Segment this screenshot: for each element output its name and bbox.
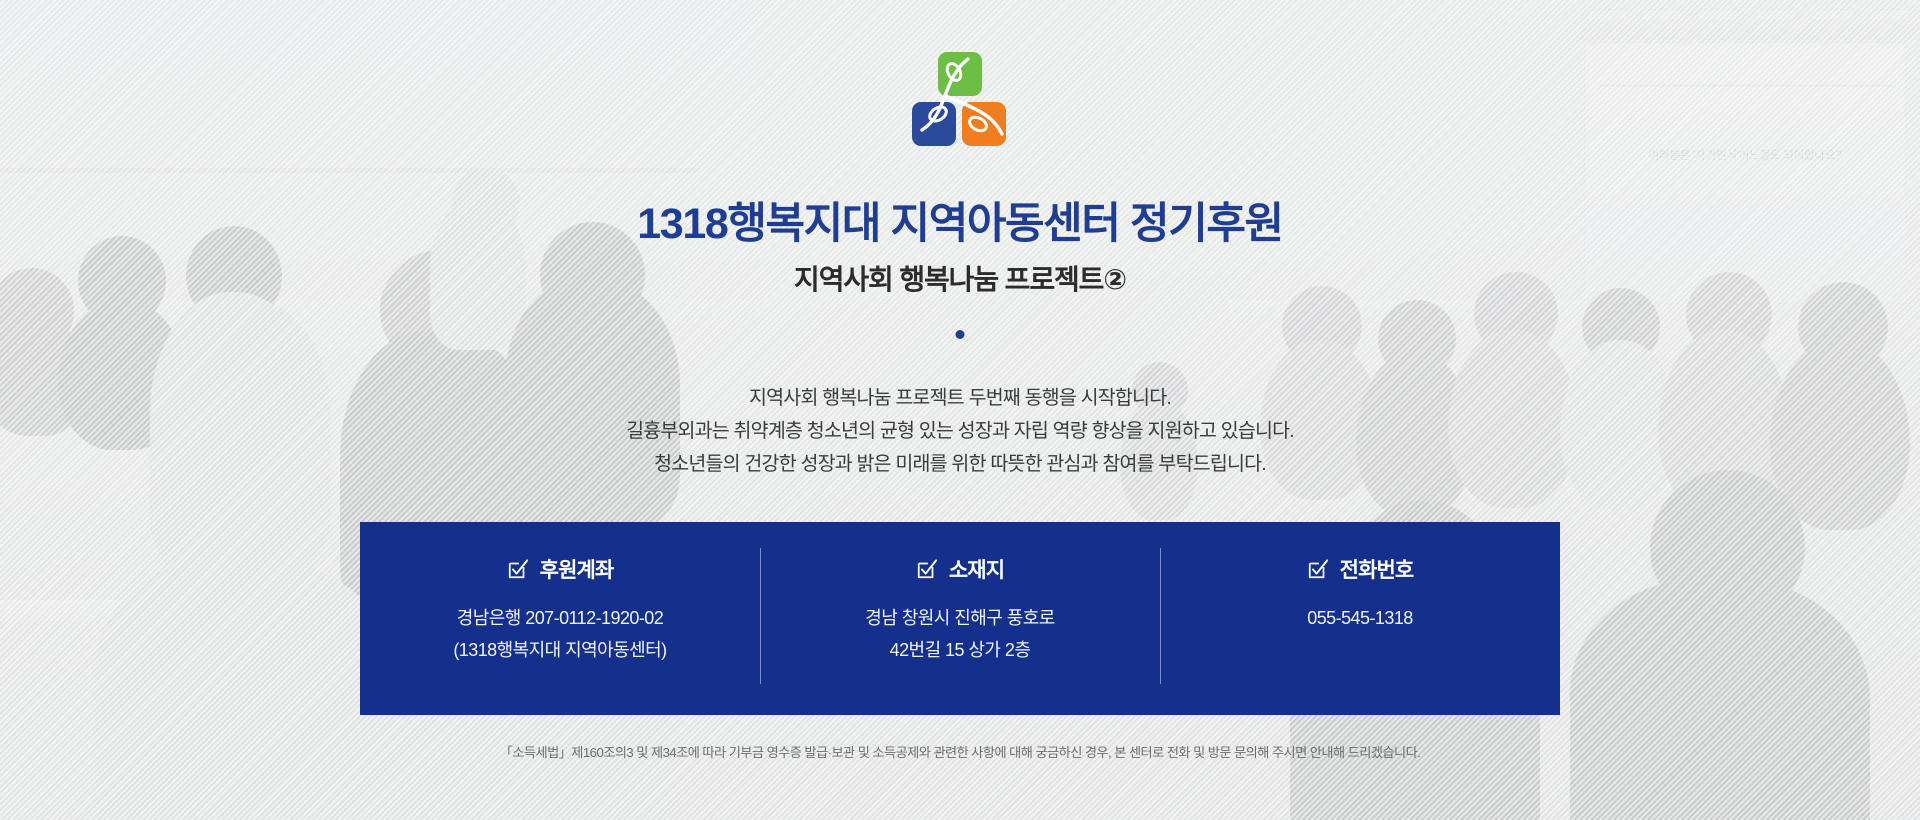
body-line: 지역사회 행복나눔 프로젝트 두번째 동행을 시작합니다. [0,382,1920,415]
info-line: 42번길 15 상가 2층 [865,634,1054,666]
info-line: 경남은행 207-0112-1920-02 [453,602,666,634]
info-line: (1318행복지대 지역아동센터) [453,634,666,666]
dot-divider [956,330,965,339]
info-lines-phone: 055-545-1318 [1307,602,1413,634]
info-column-account: 후원계좌 경남은행 207-0112-1920-02 (1318행복지대 지역아… [360,522,760,715]
info-lines-account: 경남은행 207-0112-1920-02 (1318행복지대 지역아동센터) [453,602,666,666]
info-column-location: 소재지 경남 창원시 진해구 풍호로 42번길 15 상가 2층 [760,522,1160,715]
page-title: 1318행복지대 지역아동센터 정기후원 [0,189,1920,251]
body-line: 길흉부외과는 취약계층 청소년의 균형 있는 성장과 자립 역량 향상을 지원하… [0,415,1920,448]
info-line: 경남 창원시 진해구 풍호로 [865,602,1054,634]
poster-content: 1318행복지대 지역아동센터 정기후원 지역사회 행복나눔 프로젝트② 지역사… [0,0,1920,820]
info-heading-text: 소재지 [949,554,1004,584]
info-heading-account: 후원계좌 [507,554,614,584]
tax-disclaimer-note: 「소득세법」제160조의3 및 제34조에 따라 기부금 영수증 발급·보관 및… [0,742,1920,761]
info-heading-text: 후원계좌 [540,554,614,584]
page-subtitle: 지역사회 행복나눔 프로젝트② [0,258,1920,298]
sprout-three-squares-logo [912,52,1008,160]
body-line: 청소년들의 건강한 성장과 밝은 미래를 위한 따뜻한 관심과 참여를 부탁드립… [0,448,1920,481]
info-heading-phone: 전화번호 [1307,554,1414,584]
info-line: 055-545-1318 [1307,602,1413,634]
info-heading-text: 전화번호 [1340,554,1414,584]
info-heading-location: 소재지 [916,554,1004,584]
contact-info-panel: 후원계좌 경남은행 207-0112-1920-02 (1318행복지대 지역아… [360,522,1560,715]
checkbox-checked-icon [1307,558,1329,580]
info-column-phone: 전화번호 055-545-1318 [1160,522,1560,715]
info-lines-location: 경남 창원시 진해구 풍호로 42번길 15 상가 2층 [865,602,1054,666]
checkbox-checked-icon [507,558,529,580]
body-copy: 지역사회 행복나눔 프로젝트 두번째 동행을 시작합니다. 길흉부외과는 취약계… [0,382,1920,481]
donation-poster: 여러분은 '자기인식'어느정도 되어있나요? [0,0,1920,820]
checkbox-checked-icon [916,558,938,580]
